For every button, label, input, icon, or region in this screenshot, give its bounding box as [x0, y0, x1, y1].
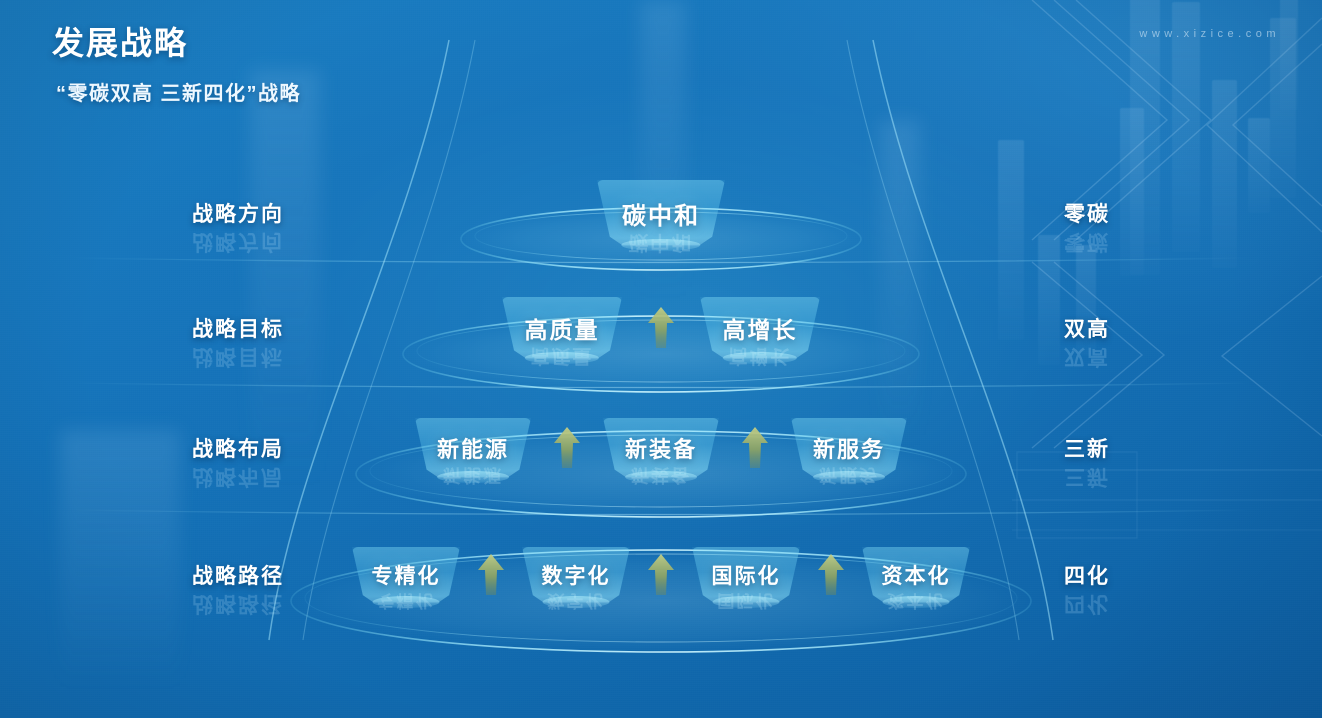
pillar-label: 资本化: [882, 560, 951, 590]
pillar-label: 新能源: [437, 432, 509, 464]
row-label-left: 战略目标: [192, 313, 284, 343]
row-label-right: 零碳: [1064, 198, 1110, 228]
row-label-right: 双高: [1064, 313, 1110, 343]
row-label-left: 战略布局: [192, 433, 284, 463]
pillar-base-ellipse: [883, 596, 950, 608]
pillar-label: 高质量: [525, 311, 600, 345]
pillar-label: 数字化: [542, 560, 611, 590]
pillar-base-ellipse: [625, 471, 697, 483]
pillar-base-ellipse: [373, 596, 440, 608]
pillar-label: 专精化: [372, 560, 441, 590]
funnel-pillar[interactable]: 新服务新服务: [791, 418, 907, 478]
row-label-right: 三新: [1064, 433, 1110, 463]
pillar-base-ellipse: [813, 471, 885, 483]
funnel-pillar[interactable]: 新能源新能源: [415, 418, 531, 478]
row-label-left: 战略路径: [192, 560, 284, 590]
arrow-up-icon: [552, 424, 582, 472]
funnel-pillar[interactable]: 高增长高增长: [700, 297, 820, 359]
pillar-base-ellipse: [437, 471, 509, 483]
funnel-pillar[interactable]: 新装备新装备: [603, 418, 719, 478]
pillar-base-ellipse: [621, 239, 700, 251]
strategy-funnel-diagram: 战略方向战略方向零碳零碳碳中和碳中和战略目标战略目标双高双高高质量高质量高增长高…: [0, 0, 1322, 718]
arrow-up-icon: [646, 551, 676, 599]
pillar-label: 碳中和: [622, 196, 700, 231]
arrow-up-icon: [646, 304, 676, 352]
row-label-left: 战略方向: [192, 198, 284, 228]
pillar-label: 国际化: [712, 560, 781, 590]
funnel-pillar[interactable]: 专精化专精化: [352, 547, 460, 603]
pillar-label: 高增长: [723, 311, 798, 345]
arrow-up-icon: [476, 551, 506, 599]
funnel-outline: [0, 0, 1322, 718]
arrow-up-icon: [740, 424, 770, 472]
funnel-pillar[interactable]: 碳中和碳中和: [597, 180, 725, 246]
funnel-pillar[interactable]: 数字化数字化: [522, 547, 630, 603]
row-label-right: 四化: [1064, 560, 1110, 590]
funnel-pillar[interactable]: 国际化国际化: [692, 547, 800, 603]
pillar-base-ellipse: [525, 352, 599, 364]
funnel-pillar[interactable]: 高质量高质量: [502, 297, 622, 359]
arrow-up-icon: [816, 551, 846, 599]
pillar-label: 新服务: [813, 432, 885, 464]
pillar-base-ellipse: [713, 596, 780, 608]
pillar-base-ellipse: [543, 596, 610, 608]
pillar-base-ellipse: [723, 352, 797, 364]
pillar-label: 新装备: [625, 432, 697, 464]
funnel-pillar[interactable]: 资本化资本化: [862, 547, 970, 603]
